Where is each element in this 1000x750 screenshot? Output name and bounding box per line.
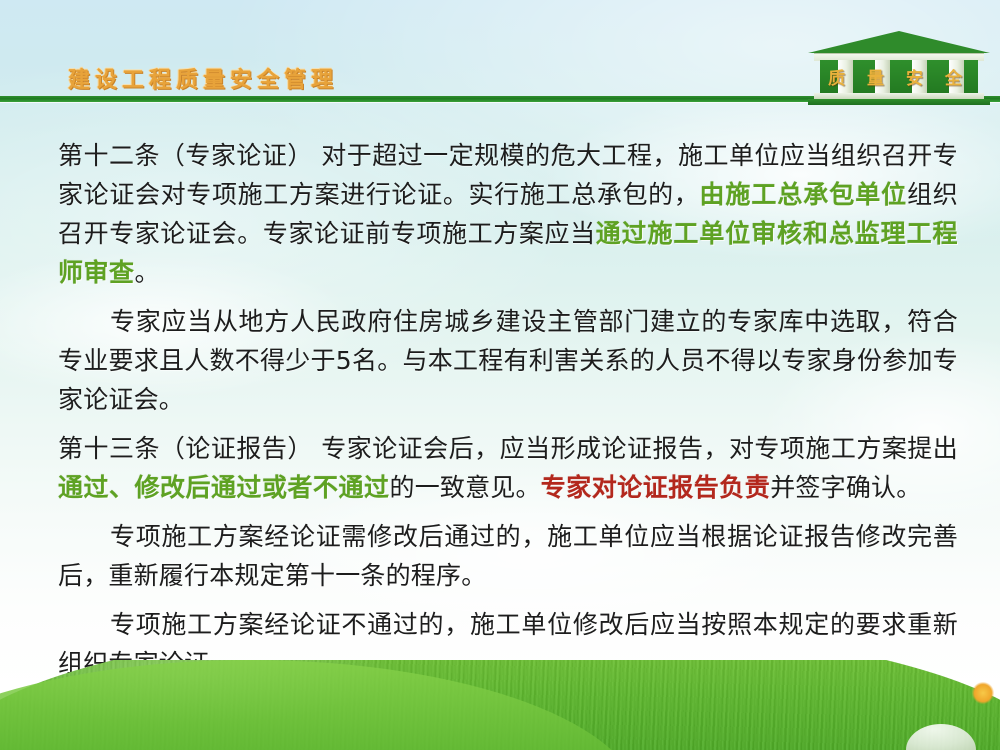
flower-icon (972, 682, 994, 704)
highlight-green-run: 通过、修改后通过或者不通过 (58, 473, 390, 502)
text-run: 并签字确认。 (770, 473, 921, 502)
page-title: 建设工程质量安全管理 (68, 62, 338, 94)
paragraph-article-12: 第十二条（专家论证） 对于超过一定规模的危大工程，施工单位应当组织召开专家论证会… (58, 136, 958, 292)
text-run: 的一致意见。 (390, 473, 541, 502)
slide-body: 第十二条（专家论证） 对于超过一定规模的危大工程，施工单位应当组织召开专家论证会… (58, 136, 958, 693)
logo-label: 质 量 安 全 (820, 64, 978, 89)
text-run: 专家应当从地方人民政府住房城乡建设主管部门建立的专家库中选取，符合专业要求且人数… (58, 307, 958, 414)
paragraph-revise-pass: 专项施工方案经论证需修改后通过的，施工单位应当根据论证报告修改完善后，重新履行本… (58, 517, 958, 595)
text-run: 第十三条（论证报告） 专家论证会后，应当形成论证报告，对专项施工方案提出 (58, 434, 958, 463)
text-run: 专项施工方案经论证需修改后通过的，施工单位应当根据论证报告修改完善后，重新履行本… (58, 522, 958, 590)
text-run: 。 (135, 258, 160, 287)
grass-field-decoration (0, 660, 1000, 750)
quality-safety-temple-logo: 质 量 安 全 (808, 31, 990, 106)
temple-roof-icon (808, 31, 990, 53)
highlight-red-run: 专家对论证报告负责 (541, 473, 771, 502)
paragraph-expert-selection: 专家应当从地方人民政府住房城乡建设主管部门建立的专家库中选取，符合专业要求且人数… (58, 302, 958, 419)
temple-base-lower (808, 99, 990, 105)
paragraph-article-13: 第十三条（论证报告） 专家论证会后，应当形成论证报告，对专项施工方案提出通过、修… (58, 429, 958, 507)
slide-root: 建设工程质量安全管理 质 量 安 全 第十二条（专家论证） 对于超过一定规模的危… (0, 0, 1000, 750)
highlight-green-run: 由施工总承包单位 (699, 180, 907, 209)
